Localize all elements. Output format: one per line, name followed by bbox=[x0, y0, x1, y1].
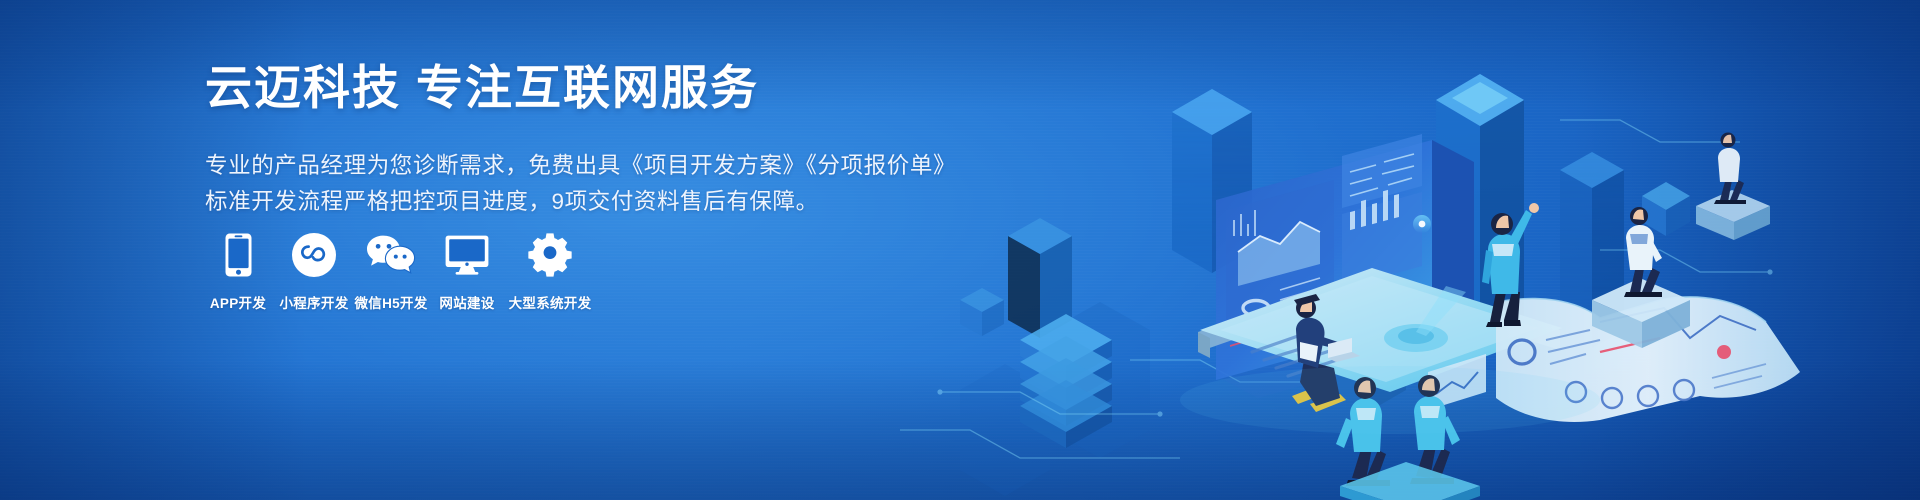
subtitle-line-2: 标准开发流程严格把控项目进度，9项交付资料售后有保障。 bbox=[205, 184, 1105, 220]
service-list: APP开发 小程序开发 bbox=[200, 232, 596, 312]
person-top-right bbox=[1696, 133, 1770, 241]
server-stack bbox=[1020, 314, 1112, 448]
service-label: 微信H5开发 bbox=[354, 292, 427, 312]
service-item-mini-program[interactable]: 小程序开发 bbox=[276, 232, 352, 312]
service-item-large-system[interactable]: 大型系统开发 bbox=[504, 232, 596, 312]
banner-title: 云迈科技 专注互联网服务 bbox=[205, 62, 1105, 114]
mini-program-icon bbox=[292, 232, 336, 278]
service-label: 网站建设 bbox=[439, 292, 494, 312]
subtitle-line-1: 专业的产品经理为您诊断需求，免费出具《项目开发方案》《分项报价单》 bbox=[205, 148, 1105, 184]
service-label: 小程序开发 bbox=[280, 292, 349, 312]
mobile-phone-icon bbox=[225, 232, 252, 278]
monitor-icon bbox=[445, 232, 489, 278]
promo-banner: 云迈科技 专注互联网服务 专业的产品经理为您诊断需求，免费出具《项目开发方案》《… bbox=[0, 0, 1920, 500]
service-label: 大型系统开发 bbox=[509, 292, 592, 312]
service-label: APP开发 bbox=[210, 292, 266, 312]
service-item-wechat-h5[interactable]: 微信H5开发 bbox=[352, 232, 430, 312]
service-item-website[interactable]: 网站建设 bbox=[430, 232, 504, 312]
gear-icon bbox=[528, 232, 572, 278]
banner-text-block: 云迈科技 专注互联网服务 专业的产品经理为您诊断需求，免费出具《项目开发方案》《… bbox=[205, 62, 1105, 221]
service-item-app[interactable]: APP开发 bbox=[200, 232, 276, 312]
wechat-icon bbox=[366, 232, 416, 278]
banner-subtitle: 专业的产品经理为您诊断需求，免费出具《项目开发方案》《分项报价单》 标准开发流程… bbox=[205, 148, 1105, 221]
